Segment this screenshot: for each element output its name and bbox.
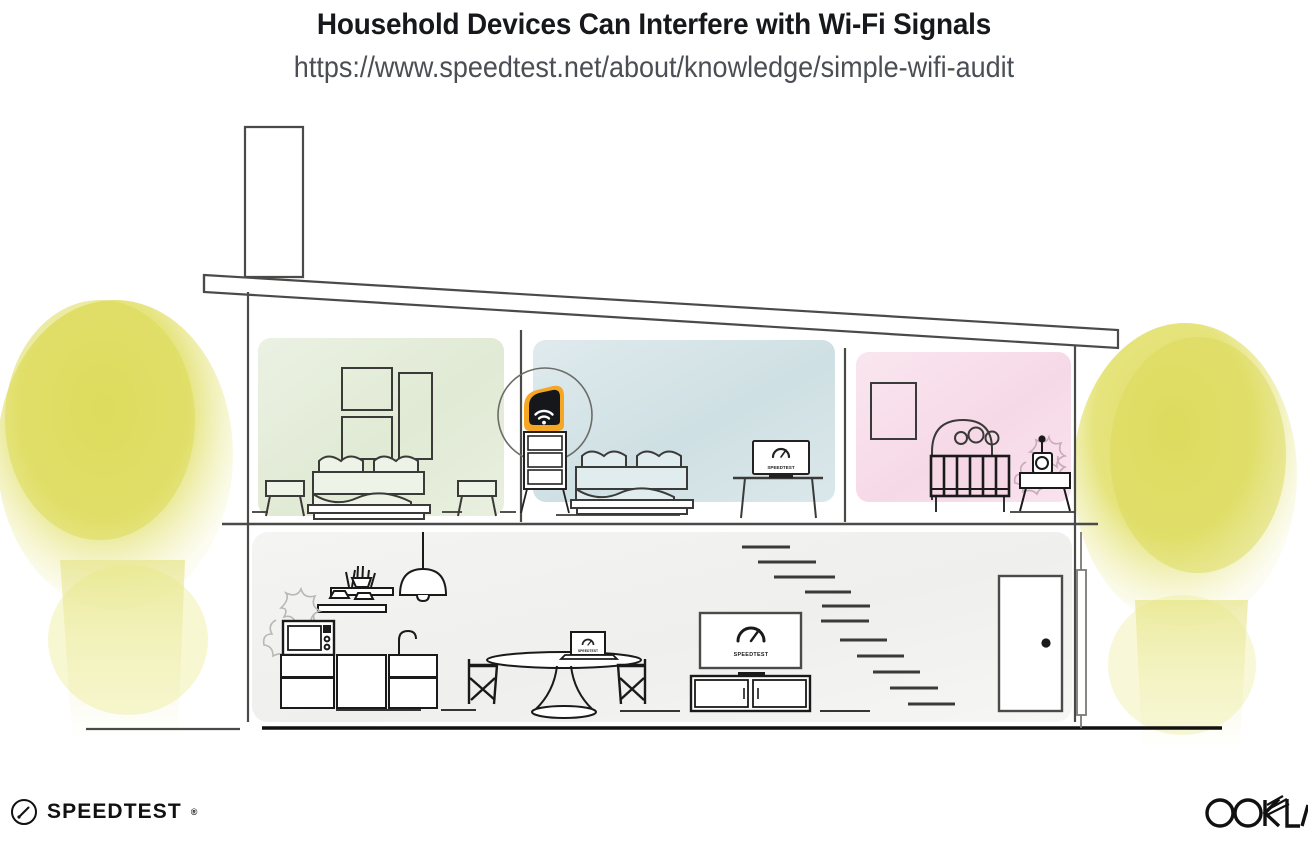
speedtest-wordmark: SPEEDTEST xyxy=(47,800,182,824)
laptop-screen-label: SPEEDTEST xyxy=(578,649,599,653)
speedtest-gauge-icon xyxy=(10,798,38,826)
tree-right-icon xyxy=(1073,323,1297,745)
speedtest-trademark: ® xyxy=(191,807,198,817)
tree-left-icon xyxy=(0,300,233,735)
ookla-wordmark-icon xyxy=(1203,795,1308,831)
monitor-screen-label: SPEEDTEST xyxy=(767,465,795,470)
desktop-monitor: SPEEDTEST xyxy=(753,441,809,478)
side-window xyxy=(1077,532,1086,728)
tv-screen-label: SPEEDTEST xyxy=(734,652,769,658)
television: SPEEDTEST xyxy=(700,613,801,675)
nursery-pink xyxy=(856,352,1075,512)
wifi-router xyxy=(524,386,564,431)
door-knob-icon xyxy=(1041,638,1050,647)
ground-floor: SPEEDTEST xyxy=(252,532,1086,728)
infographic-canvas: Household Devices Can Interfere with Wi-… xyxy=(0,0,1308,861)
front-door xyxy=(999,576,1062,711)
crib xyxy=(931,456,1009,512)
microwave xyxy=(283,621,334,655)
bedroom-green xyxy=(252,338,516,519)
bedroom-blue: SPEEDTEST xyxy=(533,340,835,518)
speedtest-logo: SPEEDTEST ® xyxy=(10,798,197,826)
house-illustration: SPEEDTEST xyxy=(0,0,1308,861)
ookla-logo xyxy=(1203,795,1308,831)
roof xyxy=(204,275,1118,348)
chimney xyxy=(245,127,303,277)
